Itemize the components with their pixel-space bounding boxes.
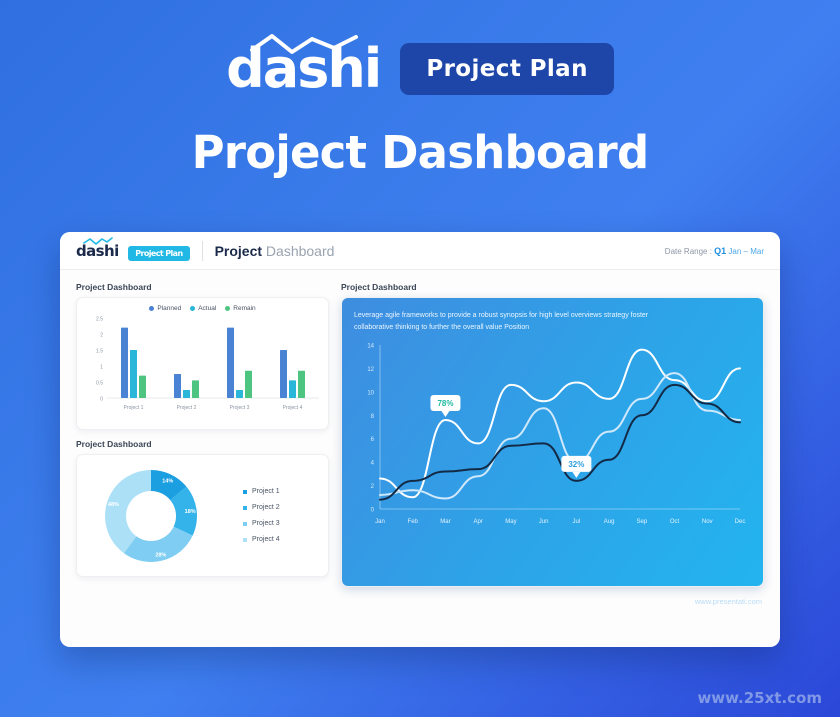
svg-text:14%: 14% bbox=[162, 478, 173, 484]
logo-squiggle-icon bbox=[250, 32, 360, 58]
svg-text:0: 0 bbox=[371, 508, 375, 514]
date-range-label: Date Range : bbox=[665, 247, 712, 256]
watermark: www.25xt.com bbox=[697, 689, 822, 707]
legend-dot-planned bbox=[149, 306, 154, 311]
svg-text:Dec: Dec bbox=[735, 519, 746, 525]
donut-legend-swatch-2 bbox=[243, 506, 247, 510]
bar-chart-card: Planned Actual Remain 00.511.522.5Projec… bbox=[76, 297, 329, 430]
mockup-footer: www.presentati.com bbox=[60, 587, 780, 617]
svg-text:Mar: Mar bbox=[440, 519, 450, 525]
donut-legend-item-1[interactable]: Project 1 bbox=[243, 488, 280, 495]
mockup-body: Project Dashboard Planned Actual Remain bbox=[60, 270, 780, 587]
svg-text:Project 1: Project 1 bbox=[124, 405, 144, 411]
svg-text:28%: 28% bbox=[155, 552, 166, 558]
svg-text:1.5: 1.5 bbox=[96, 349, 103, 355]
dashboard-mockup: dashi Project Plan Project Dashboard Dat… bbox=[60, 232, 780, 647]
footer-url: www.presentati.com bbox=[695, 597, 762, 606]
svg-text:32%: 32% bbox=[568, 460, 584, 469]
mockup-plan-badge: Project Plan bbox=[128, 246, 189, 261]
svg-text:6: 6 bbox=[371, 437, 375, 443]
page-title: Project Dashboard bbox=[0, 126, 840, 179]
donut-legend-item-2[interactable]: Project 2 bbox=[243, 504, 280, 511]
donut-chart-plot: 14%18%28%48% bbox=[85, 463, 237, 569]
bar-chart-plot: 00.511.522.5Project 1Project 2Project 3P… bbox=[85, 314, 322, 418]
brand-row: dashi Project Plan bbox=[0, 42, 840, 96]
svg-text:Aug: Aug bbox=[604, 519, 615, 525]
legend-item-planned[interactable]: Planned bbox=[149, 305, 181, 312]
legend-item-actual[interactable]: Actual bbox=[190, 305, 216, 312]
svg-text:Project 4: Project 4 bbox=[283, 405, 303, 411]
mockup-title-bold: Project bbox=[215, 243, 262, 259]
svg-text:1: 1 bbox=[100, 365, 103, 371]
donut-legend-swatch-4 bbox=[243, 538, 247, 542]
mockup-logo: dashi Project Plan bbox=[76, 242, 190, 260]
svg-text:Project 2: Project 2 bbox=[177, 405, 197, 411]
svg-text:Jun: Jun bbox=[539, 519, 549, 525]
svg-text:2: 2 bbox=[100, 333, 103, 339]
svg-text:0.5: 0.5 bbox=[96, 381, 103, 387]
svg-text:Feb: Feb bbox=[408, 519, 419, 525]
svg-text:0: 0 bbox=[100, 397, 103, 403]
line-chart-card: Leverage agile frameworks to provide a r… bbox=[341, 297, 764, 587]
svg-text:2: 2 bbox=[371, 484, 375, 490]
svg-text:Sep: Sep bbox=[636, 519, 647, 525]
hero-section: dashi Project Plan Project Dashboard bbox=[0, 0, 840, 179]
svg-text:4: 4 bbox=[371, 461, 375, 467]
svg-text:78%: 78% bbox=[437, 399, 453, 408]
mockup-title-light: Dashboard bbox=[266, 243, 335, 259]
donut-legend-label-3: Project 3 bbox=[252, 520, 280, 527]
date-range-control[interactable]: Date Range : Q1 Jan – Mar bbox=[665, 246, 764, 256]
svg-text:18%: 18% bbox=[185, 509, 196, 515]
svg-text:14: 14 bbox=[367, 344, 374, 350]
line-chart-plot: 02468101214JanFebMarAprMayJunJulAugSepOc… bbox=[354, 337, 748, 549]
svg-text:Nov: Nov bbox=[702, 519, 713, 525]
date-range-value: Jan – Mar bbox=[728, 247, 764, 256]
right-column: Project Dashboard Leverage agile framewo… bbox=[341, 282, 764, 587]
svg-text:10: 10 bbox=[367, 390, 374, 396]
left-column: Project Dashboard Planned Actual Remain bbox=[76, 282, 329, 587]
legend-dot-actual bbox=[190, 306, 195, 311]
legend-label-actual: Actual bbox=[198, 305, 216, 312]
date-range-quarter: Q1 bbox=[714, 246, 726, 256]
svg-text:Jul: Jul bbox=[573, 519, 581, 525]
donut-legend-swatch-1 bbox=[243, 490, 247, 494]
donut-legend-label-1: Project 1 bbox=[252, 488, 280, 495]
svg-text:12: 12 bbox=[367, 367, 374, 373]
svg-text:Project 3: Project 3 bbox=[230, 405, 250, 411]
svg-text:Oct: Oct bbox=[670, 519, 680, 525]
legend-item-remain[interactable]: Remain bbox=[225, 305, 255, 312]
donut-legend: Project 1 Project 2 Project 3 Project 4 bbox=[243, 488, 280, 543]
svg-text:2.5: 2.5 bbox=[96, 317, 103, 323]
svg-text:8: 8 bbox=[371, 414, 375, 420]
project-plan-badge: Project Plan bbox=[400, 43, 614, 95]
line-panel-label: Project Dashboard bbox=[341, 282, 764, 292]
svg-text:Jan: Jan bbox=[375, 519, 385, 525]
svg-text:May: May bbox=[505, 519, 516, 525]
header-divider bbox=[202, 241, 203, 261]
bar-panel-label: Project Dashboard bbox=[76, 282, 329, 292]
donut-chart-card: 14%18%28%48% Project 1 Project 2 Project… bbox=[76, 454, 329, 577]
mockup-title: Project Dashboard bbox=[215, 243, 335, 259]
bar-chart-legend: Planned Actual Remain bbox=[85, 305, 320, 312]
legend-label-remain: Remain bbox=[233, 305, 255, 312]
legend-dot-remain bbox=[225, 306, 230, 311]
donut-legend-swatch-3 bbox=[243, 522, 247, 526]
donut-legend-item-3[interactable]: Project 3 bbox=[243, 520, 280, 527]
mockup-header: dashi Project Plan Project Dashboard Dat… bbox=[60, 232, 780, 270]
donut-legend-item-4[interactable]: Project 4 bbox=[243, 536, 280, 543]
donut-legend-label-2: Project 2 bbox=[252, 504, 280, 511]
mockup-logo-squiggle-icon bbox=[83, 237, 113, 245]
svg-text:Apr: Apr bbox=[474, 519, 483, 525]
svg-text:48%: 48% bbox=[108, 501, 119, 507]
dashi-logo: dashi bbox=[226, 42, 380, 96]
intro-paragraph: Leverage agile frameworks to provide a r… bbox=[354, 310, 654, 333]
legend-label-planned: Planned bbox=[157, 305, 181, 312]
donut-panel-label: Project Dashboard bbox=[76, 439, 329, 449]
donut-legend-label-4: Project 4 bbox=[252, 536, 280, 543]
